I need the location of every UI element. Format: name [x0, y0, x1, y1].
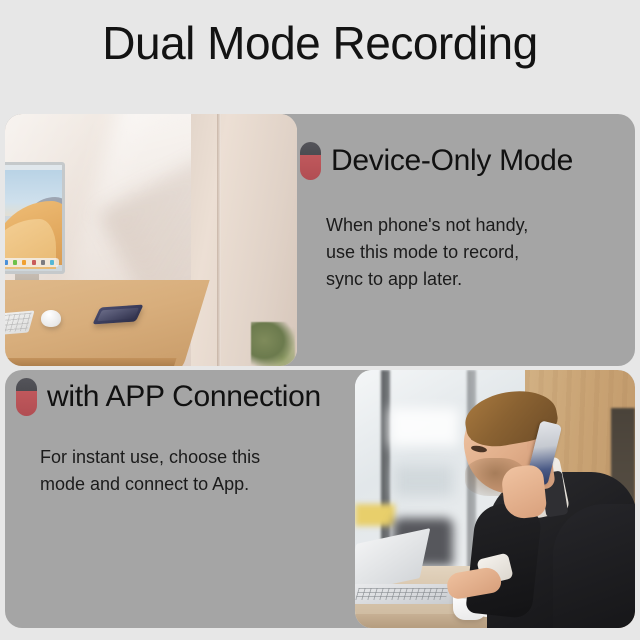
dock-icon-safari — [50, 260, 54, 265]
laptop-keyboard — [355, 588, 448, 600]
suit-shoulder — [553, 504, 635, 628]
desk-front-edge — [5, 358, 177, 366]
dock-icon-messages — [13, 260, 17, 265]
wall-column-edge — [217, 114, 221, 366]
dock-icon-mail — [22, 260, 26, 265]
dock-icon-music — [32, 260, 36, 265]
businessman — [441, 388, 635, 628]
dock-icon-settings — [41, 260, 45, 265]
macos-menubar — [5, 165, 62, 170]
card-headline-with-app-connection: with APP Connection — [47, 379, 321, 415]
headline-row-with-app-connection: with APP Connection — [16, 378, 321, 416]
macos-dock — [5, 258, 59, 267]
page-title: Dual Mode Recording — [0, 14, 640, 72]
card-body-device-only-mode: When phone's not handy, use this mode to… — [326, 212, 528, 293]
dock-icon-finder — [5, 260, 8, 265]
pill-icon — [16, 378, 37, 416]
mouse — [41, 310, 61, 327]
imac-monitor — [5, 162, 65, 274]
headline-row-device-only-mode: Device-Only Mode — [300, 142, 573, 180]
pill-icon — [300, 142, 321, 180]
monitor-screen — [5, 162, 65, 274]
card-headline-device-only-mode: Device-Only Mode — [331, 143, 573, 179]
card-body-with-app-connection: For instant use, choose this mode and co… — [40, 444, 260, 498]
desk-workspace-photo — [5, 114, 297, 366]
window-yellow-accent — [355, 504, 395, 526]
businessman-phone-call-photo — [355, 370, 635, 628]
plant-leaf — [251, 322, 295, 366]
